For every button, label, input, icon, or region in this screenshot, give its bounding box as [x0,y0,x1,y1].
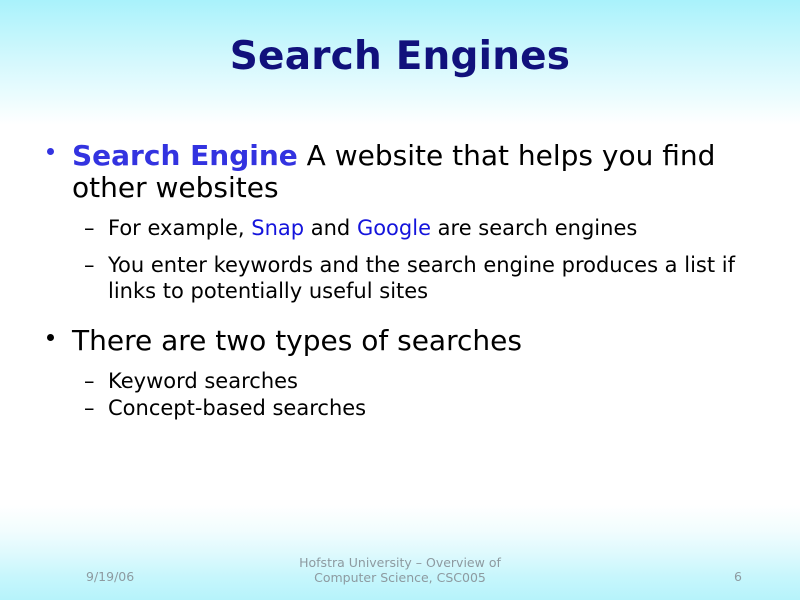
bullet-item-two-types: There are two types of searches [40,325,780,357]
footer-date: 9/19/06 [86,569,134,584]
spacer [40,305,780,325]
sub-bullet-text-part3: are search engines [431,216,637,240]
footer-course-line1: Hofstra University – Overview of [200,555,600,571]
sub-bullet-dash-icon: – [84,369,95,395]
slide-body: Search Engine A website that helps you f… [40,140,780,423]
bullet-dot-icon [47,334,54,341]
spacer [40,359,780,369]
sub-bullet-item-concept-searches: – Concept-based searches [40,396,780,422]
sub-bullet-text-concept-searches: Concept-based searches [108,396,366,420]
slide-footer: 9/19/06 Hofstra University – Overview of… [0,544,800,600]
bullet-dot-icon [47,148,54,155]
bullet-term-search-engine: Search Engine [72,139,298,172]
sub-bullet-text-keyword-searches: Keyword searches [108,369,298,393]
bullet-text-two-types: There are two types of searches [72,324,522,357]
bullet-item-search-engine: Search Engine A website that helps you f… [40,140,780,204]
sub-bullet-dash-icon: – [84,396,95,422]
spacer [40,243,780,253]
sub-bullet-item-keywords: – You enter keywords and the search engi… [40,253,780,304]
sub-bullet-item-keyword-searches: – Keyword searches [40,369,780,395]
page-title: Search Engines [40,36,760,79]
sub-bullet-text-keywords: You enter keywords and the search engine… [108,253,735,303]
sub-bullet-item-example: – For example, Snap and Google are searc… [40,216,780,242]
link-snap: Snap [251,216,304,240]
sub-bullet-dash-icon: – [84,253,95,279]
sub-bullet-text-part1: For example, [108,216,251,240]
spacer [40,206,780,216]
sub-bullet-text-part2: and [304,216,357,240]
sub-bullet-dash-icon: – [84,216,95,242]
link-google: Google [357,216,431,240]
footer-course-line2: Computer Science, CSC005 [200,570,600,586]
footer-page-number: 6 [734,569,742,584]
footer-course-info: Hofstra University – Overview of Compute… [200,555,600,586]
slide: Search Engines Search Engine A website t… [0,0,800,600]
